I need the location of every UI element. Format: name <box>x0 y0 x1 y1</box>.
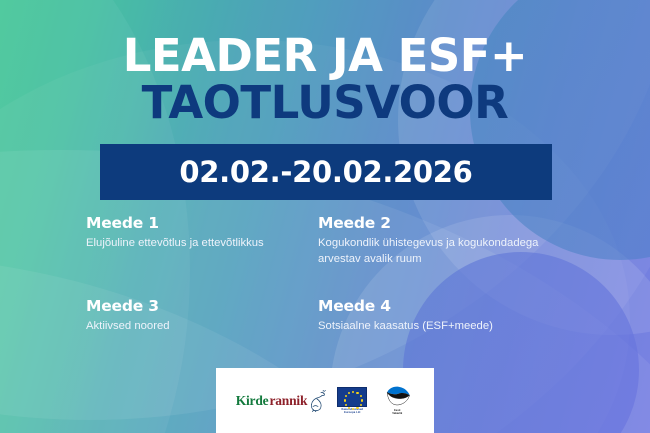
heron-bird-icon <box>306 390 326 412</box>
eu-flag-icon <box>337 387 367 407</box>
measure-item-1: Meede 1 Elujõuline ettevõtlus ja ettevõt… <box>86 214 318 267</box>
eu-caption-line-2: Euroopa Liit <box>334 411 370 414</box>
date-banner: 02.02.-20.02.2026 <box>100 144 552 200</box>
measures-grid: Meede 1 Elujõuline ettevõtlus ja ettevõt… <box>0 214 650 334</box>
estonia-logo: Eesti Vabariik <box>380 386 414 415</box>
european-union-logo: Kaasrahastanud Euroopa Liit <box>334 387 370 414</box>
kirderannik-wordmark-part1: Kirde <box>236 393 269 409</box>
kirderannik-wordmark-part2: rannik <box>269 393 307 409</box>
logo-bar: Kirde rannik <box>216 368 434 433</box>
measure-item-4: Meede 4 Sotsiaalne kaasatus (ESF+meede) <box>318 297 634 334</box>
kirderannik-logo: Kirde rannik <box>236 393 325 409</box>
title-line-primary: LEADER JA ESF+ <box>0 34 650 77</box>
measure-title: Meede 2 <box>318 214 634 232</box>
poster-title: LEADER JA ESF+ TAOTLUSVOOR <box>0 34 650 124</box>
measure-description: Aktiivsed noored <box>86 318 318 334</box>
measure-description: Kogukondlik ühistegevus ja kogukondadega… <box>318 235 580 267</box>
measure-item-2: Meede 2 Kogukondlik ühistegevus ja koguk… <box>318 214 634 267</box>
measure-title: Meede 3 <box>86 297 318 315</box>
estonia-caption: Eesti Vabariik <box>380 409 414 415</box>
date-range-text: 02.02.-20.02.2026 <box>179 155 472 189</box>
measure-description: Sotsiaalne kaasatus (ESF+meede) <box>318 318 580 334</box>
title-line-secondary: TAOTLUSVOOR <box>0 81 650 124</box>
measure-description: Elujõuline ettevõtlus ja ettevõtlikkus <box>86 235 318 251</box>
estonia-caption-line-2: Vabariik <box>380 412 414 415</box>
measure-title: Meede 4 <box>318 297 634 315</box>
measure-title: Meede 1 <box>86 214 318 232</box>
estonia-swallow-icon <box>383 386 411 407</box>
poster-canvas: LEADER JA ESF+ TAOTLUSVOOR 02.02.-20.02.… <box>0 0 650 433</box>
measure-item-3: Meede 3 Aktiivsed noored <box>86 297 318 334</box>
